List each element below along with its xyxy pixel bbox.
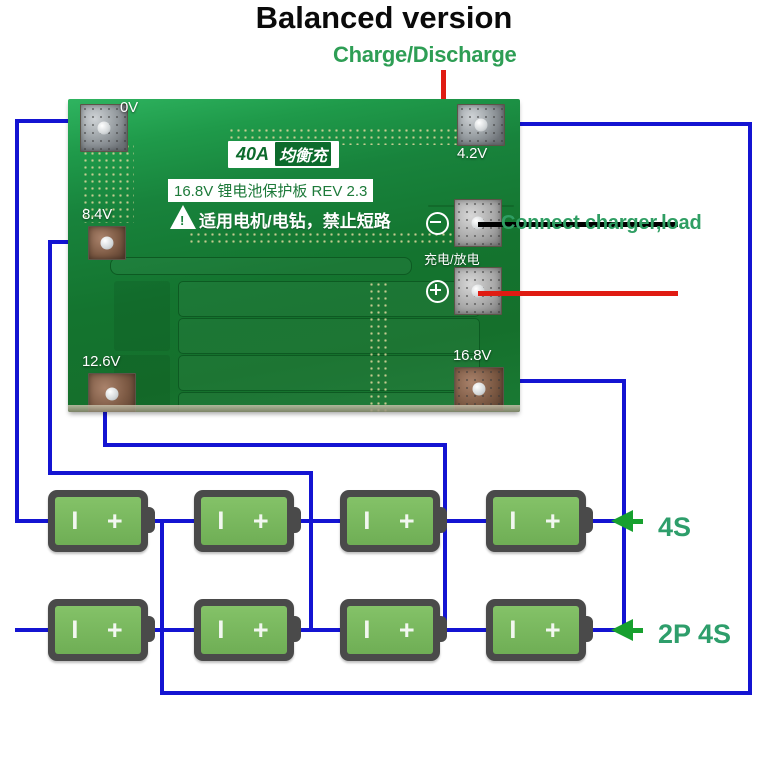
wire-4.2v-right-rail [748, 122, 752, 695]
silkscreen-current-rating: 40A 均衡充 [228, 141, 339, 168]
battery-positive-label: + [545, 617, 561, 644]
battery-cell[interactable]: I + [48, 490, 148, 552]
battery-negative-label: I [363, 618, 370, 643]
pcb-trace-slot [178, 355, 480, 391]
pad-label-0v: 0V [120, 99, 138, 116]
battery-terminal [145, 507, 155, 533]
wire-4.2v-horizontal [490, 122, 752, 126]
wire-4.2v-bottom-rail [160, 691, 752, 695]
battery-body: I + [493, 606, 579, 654]
silkscreen-warning: 适用电机/电钻，禁止短路 [199, 207, 391, 232]
wire-4.2v-up-to-row2 [160, 628, 164, 695]
pcb-edge [68, 405, 520, 412]
battery-terminal [437, 616, 447, 642]
battery-negative-label: I [71, 509, 78, 534]
warning-exclamation: ! [180, 214, 184, 227]
wire-parallel-tap-3 [443, 519, 447, 632]
battery-terminal [145, 616, 155, 642]
label-connect-charger-load: Connect charger,load [501, 212, 702, 235]
battery-cell[interactable]: I + [194, 490, 294, 552]
silk-40a: 40A [236, 144, 269, 165]
battery-positive-label: + [253, 617, 269, 644]
battery-body: I + [493, 497, 579, 545]
label-4s: 4S [658, 512, 691, 543]
battery-cell[interactable]: I + [340, 490, 440, 552]
pad-hole [106, 388, 119, 401]
battery-negative-label: I [363, 509, 370, 534]
silk-balance-cn: 均衡充 [275, 142, 331, 166]
plus-circle-icon [426, 280, 449, 303]
wire-0v-vertical [15, 119, 19, 523]
battery-negative-label: I [509, 509, 516, 534]
pcb-copper-area [114, 281, 170, 351]
battery-terminal [583, 616, 593, 642]
pad-label-4.2v: 4.2V [457, 145, 487, 162]
battery-body: I + [55, 497, 141, 545]
minus-circle-icon [426, 212, 449, 235]
port-label-cn: 充电/放电 [424, 249, 480, 268]
label-charge-discharge: Charge/Discharge [333, 42, 517, 68]
battery-terminal [291, 616, 301, 642]
wire-16.8v-vertical [622, 379, 626, 633]
battery-cell[interactable]: I + [48, 599, 148, 661]
wire-parallel-tap-2 [309, 519, 313, 632]
wire-8.4v-vertical [48, 240, 52, 475]
battery-positive-label: + [107, 508, 123, 535]
battery-negative-label: I [217, 509, 224, 534]
battery-body: I + [201, 497, 287, 545]
battery-positive-label: + [107, 617, 123, 644]
pad-8.4v[interactable] [88, 226, 126, 260]
battery-terminal [291, 507, 301, 533]
pad-hole [101, 237, 114, 250]
bms-protection-board: 40A 均衡充 16.8V 锂电池保护板 REV 2.3 ! 适用电机/电钻，禁… [68, 99, 520, 412]
silkscreen-model: 16.8V 锂电池保护板 REV 2.3 [168, 179, 373, 202]
pad-hole [473, 383, 486, 396]
pad-label-16.8v: 16.8V [453, 347, 491, 364]
battery-cell[interactable]: I + [486, 599, 586, 661]
pad-4.2v[interactable] [457, 104, 505, 146]
battery-positive-label: + [253, 508, 269, 535]
warning-triangle-icon: ! [170, 205, 196, 229]
wire-8.4v-run [48, 471, 313, 475]
diagram-canvas: Balanced version Charge/Discharge [0, 0, 768, 768]
battery-cell[interactable]: I + [486, 490, 586, 552]
battery-negative-label: I [71, 618, 78, 643]
battery-negative-label: I [509, 618, 516, 643]
pcb-trace-slot [110, 257, 412, 275]
arrow-left-icon-2p4s [611, 619, 633, 641]
battery-body: I + [347, 497, 433, 545]
battery-positive-label: + [399, 508, 415, 535]
battery-terminal [437, 507, 447, 533]
battery-cell[interactable]: I + [194, 599, 294, 661]
wire-parallel-tap-1 [160, 519, 164, 632]
battery-positive-label: + [545, 508, 561, 535]
page-title: Balanced version [0, 0, 768, 36]
battery-body: I + [55, 606, 141, 654]
battery-positive-label: + [399, 617, 415, 644]
label-2p-4s: 2P 4S [658, 619, 731, 650]
battery-terminal [583, 507, 593, 533]
battery-negative-label: I [217, 618, 224, 643]
battery-body: I + [347, 606, 433, 654]
pcb-via-field [368, 281, 390, 412]
wire-positive-red [478, 291, 678, 296]
pad-hole [475, 119, 488, 132]
battery-cell[interactable]: I + [340, 599, 440, 661]
pad-hole [98, 122, 111, 135]
arrow-left-icon-4s [611, 510, 633, 532]
wire-12.6v-run [103, 443, 447, 447]
battery-body: I + [201, 606, 287, 654]
pcb-trace-slot [178, 318, 480, 354]
pad-label-8.4v: 8.4V [82, 206, 112, 223]
pad-label-12.6v: 12.6V [82, 353, 120, 370]
